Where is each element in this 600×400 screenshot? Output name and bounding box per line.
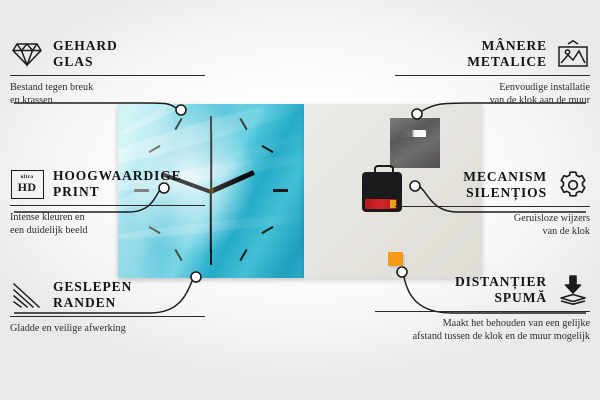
feature-title: MÂNERE METALICE — [467, 38, 547, 70]
feature-title: GEHARD GLAS — [53, 38, 118, 70]
feature-subtitle: Eenvoudige installatie van de klok aan d… — [395, 81, 590, 108]
beveled-edge-icon — [10, 279, 44, 311]
clock-tick — [210, 116, 212, 131]
divider — [10, 205, 205, 206]
gear-icon — [556, 169, 590, 201]
clock-tick — [174, 249, 182, 261]
feature-manere-metalice: MÂNERE METALICE Eenvoudige installatie v… — [395, 36, 590, 108]
clock-hub — [209, 188, 214, 193]
divider — [395, 75, 590, 76]
feature-geslepen-randen: GESLEPEN RANDEN Gladde en veilige afwerk… — [10, 277, 205, 335]
divider — [375, 311, 590, 312]
diamond-icon — [10, 38, 44, 70]
feature-hoogwaardige-print: ultra HD HOOGWAARDIGE PRINT Intense kleu… — [10, 166, 205, 238]
clock-tick — [261, 226, 273, 234]
divider — [10, 316, 205, 317]
metal-hanger-plate — [390, 118, 440, 168]
aa-battery — [365, 199, 397, 209]
feature-subtitle: Bestand tegen breuk en krassen — [10, 81, 205, 108]
ultra-hd-icon: ultra HD — [10, 168, 44, 200]
clock-tick — [239, 249, 247, 261]
spacer-arrow-icon — [556, 274, 590, 306]
feature-title: MECANISM SILENȚIOS — [463, 169, 547, 201]
hanger-slot — [400, 130, 426, 137]
feature-subtitle: Maakt het behouden van een gelijke afsta… — [375, 317, 590, 344]
feature-title: GESLEPEN RANDEN — [53, 279, 132, 311]
feature-distantier-spuma: DISTANȚIER SPUMĂ Maakt het behouden van … — [375, 272, 590, 344]
feature-subtitle: Geruisloze wijzers van de klok — [395, 212, 590, 239]
orange-foam-spacer — [388, 252, 403, 266]
picture-frame-icon — [556, 38, 590, 70]
feature-title: HOOGWAARDIGE PRINT — [53, 168, 182, 200]
feature-subtitle: Intense kleuren en een duidelijk beeld — [10, 211, 205, 238]
feature-subtitle: Gladde en veilige afwerking — [10, 322, 205, 335]
divider — [395, 206, 590, 207]
divider — [10, 75, 205, 76]
feature-gehard-glas: GEHARD GLAS Bestand tegen breuk en krass… — [10, 36, 205, 108]
second-hand-tail — [210, 131, 212, 191]
second-hand — [210, 191, 212, 253]
feature-mecanism-silentios: MECANISM SILENȚIOS Geruisloze wijzers va… — [395, 167, 590, 239]
mechanism-hook — [374, 165, 394, 176]
feature-title: DISTANȚIER SPUMĂ — [455, 274, 547, 306]
infographic-canvas: GEHARD GLAS Bestand tegen breuk en krass… — [0, 0, 600, 400]
clock-tick — [273, 189, 288, 192]
